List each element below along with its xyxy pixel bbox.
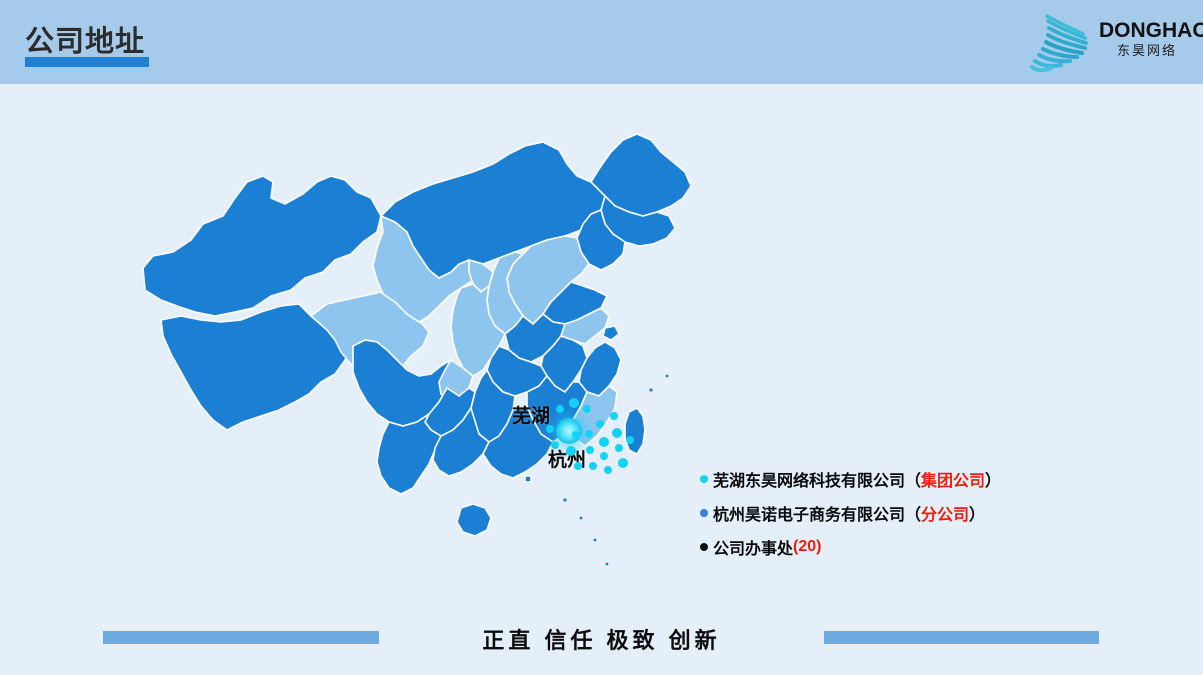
slide-canvas: 公司地址: [0, 0, 1203, 675]
legend-label-tail: ）: [969, 501, 985, 525]
legend-item-branch-company: 杭州昊诺电子商务有限公司（ 分公司 ）: [700, 496, 1160, 530]
slide-header: 公司地址: [0, 0, 1203, 84]
office-marker[interactable]: [618, 458, 628, 468]
office-marker[interactable]: [600, 452, 608, 460]
legend-label-tag: 集团公司: [921, 467, 985, 491]
brand-logo: DONGHAO 东昊网络: [1015, 6, 1195, 76]
office-marker[interactable]: [574, 462, 582, 470]
logo-wordmark: DONGHAO 东昊网络: [1099, 20, 1195, 59]
legend-item-offices: 公司办事处 (20): [700, 530, 1160, 564]
office-marker[interactable]: [596, 420, 604, 428]
office-marker[interactable]: [612, 428, 622, 438]
office-marker[interactable]: [599, 437, 609, 447]
footer-slogan: 正直 信任 极致 创新: [0, 623, 1203, 655]
legend-bullet-cyan-icon: [700, 475, 708, 483]
office-marker[interactable]: [626, 436, 634, 444]
legend-label-tag: 分公司: [921, 501, 969, 525]
legend-label-text: 公司办事处: [713, 535, 793, 559]
legend-item-group-company: 芜湖东昊网络科技有限公司（ 集团公司 ）: [700, 462, 1160, 496]
legend-bullet-black-icon: [700, 543, 708, 551]
office-marker[interactable]: [569, 398, 579, 408]
logo-name-en: DONGHAO: [1099, 20, 1195, 42]
office-marker[interactable]: [583, 405, 591, 413]
office-marker[interactable]: [585, 430, 593, 438]
office-marker[interactable]: [551, 441, 559, 449]
map-label-wuhu: 芜湖: [512, 401, 550, 428]
office-marker[interactable]: [586, 446, 594, 454]
legend-label-tag: (20): [793, 538, 821, 556]
legend-label-text: 芜湖东昊网络科技有限公司（: [713, 467, 921, 491]
office-marker[interactable]: [566, 446, 576, 456]
office-marker[interactable]: [610, 412, 618, 420]
office-marker[interactable]: [615, 444, 623, 452]
office-marker[interactable]: [589, 462, 597, 470]
china-map: [95, 120, 715, 600]
logo-name-cn: 东昊网络: [1099, 42, 1195, 59]
office-marker[interactable]: [572, 431, 580, 439]
legend-label-tail: ）: [985, 467, 1001, 491]
title-underline-rule: [25, 57, 149, 67]
feather-wing-icon: [1027, 8, 1099, 74]
legend-label-text: 杭州昊诺电子商务有限公司（: [713, 501, 921, 525]
office-marker[interactable]: [546, 425, 554, 433]
legend: 芜湖东昊网络科技有限公司（ 集团公司 ） 杭州昊诺电子商务有限公司（ 分公司 ）…: [700, 462, 1160, 564]
office-marker[interactable]: [556, 405, 564, 413]
legend-bullet-blue-icon: [700, 509, 708, 517]
office-marker[interactable]: [604, 466, 612, 474]
page-title: 公司地址: [25, 18, 145, 60]
